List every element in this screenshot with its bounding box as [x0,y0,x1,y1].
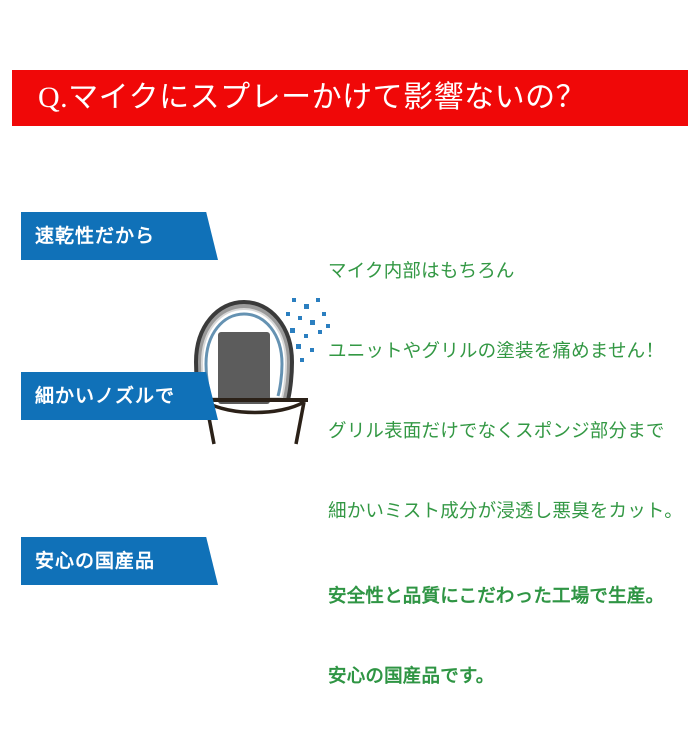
feature-description-line: 細かいミスト成分が浸透し悪臭をカット。 [328,498,683,525]
title-banner: Q.マイクにスプレーかけて影響ないの？ [12,70,688,126]
page-title: Q.マイクにスプレーかけて影響ないの？ [12,83,586,113]
feature-tag-label-1: 速乾性だから [21,227,155,246]
feature-description-line: 安心の国産品です。 [328,663,664,690]
feature-tag-3: 安心の国産品 [21,537,218,585]
infographic-page: Q.マイクにスプレーかけて影響ないの？ 速乾性だから マイク内部はもちろん ユニ… [0,0,700,700]
feature-tag-label-3: 安心の国産品 [21,552,155,571]
feature-description-line: マイク内部はもちろん [328,258,664,285]
feature-tag-1: 速乾性だから [21,212,218,260]
feature-description-line: 安全性と品質にこだわった工場で生産。 [328,583,664,610]
feature-description-3: 安全性と品質にこだわった工場で生産。 安心の国産品です。 [328,529,664,744]
feature-row-2: 細かいノズルで グリル表面だけでなくスポンジ部分まで 細かいミスト成分が浸透し悪… [0,360,700,450]
feature-tag-2: 細かいノズルで [21,372,218,420]
feature-tag-label-2: 細かいノズルで [21,387,175,406]
feature-row-3: 安心の国産品 安全性と品質にこだわった工場で生産。 安心の国産品です。 [0,525,700,615]
feature-description-line: グリル表面だけでなくスポンジ部分まで [328,418,683,445]
feature-row-1: 速乾性だから マイク内部はもちろん ユニットやグリルの塗装を痛めません！ [0,200,700,290]
